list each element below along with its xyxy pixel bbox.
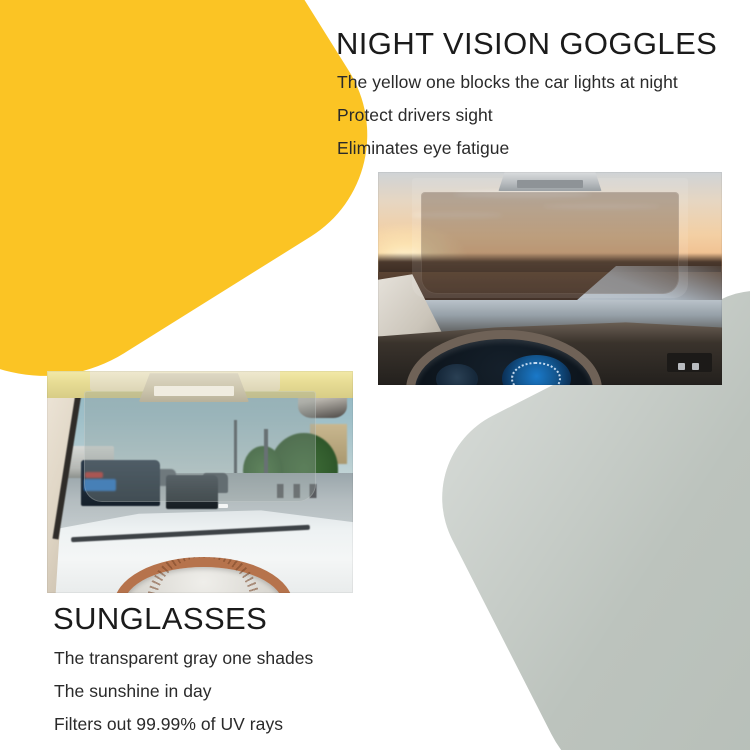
sunglasses-line-2: The sunshine in day: [54, 681, 212, 702]
night-vision-line-2: Protect drivers sight: [337, 105, 493, 126]
yellow-lens-shape: [0, 0, 413, 433]
visor-clip: [139, 373, 249, 402]
product-feature-image: NIGHT VISION GOGGLES The yellow one bloc…: [0, 0, 750, 750]
night-vision-line-1: The yellow one blocks the car lights at …: [337, 72, 678, 93]
gray-visor-panel: [84, 391, 317, 502]
sunglasses-heading: SUNGLASSES: [53, 601, 267, 637]
dashboard-vent: [667, 353, 712, 372]
night-scene: [378, 172, 722, 385]
sunglasses-line-1: The transparent gray one shades: [54, 648, 313, 669]
sunglasses-photo: [47, 371, 353, 593]
night-vision-heading: NIGHT VISION GOGGLES: [336, 26, 717, 62]
yellow-visor-panel: [421, 192, 679, 294]
visor-clip: [498, 172, 601, 191]
sunglasses-line-3: Filters out 99.99% of UV rays: [54, 714, 283, 735]
night-vision-line-3: Eliminates eye fatigue: [337, 138, 509, 159]
night-vision-photo: [378, 172, 722, 385]
day-scene: [47, 371, 353, 593]
lane-marking: [218, 504, 228, 508]
